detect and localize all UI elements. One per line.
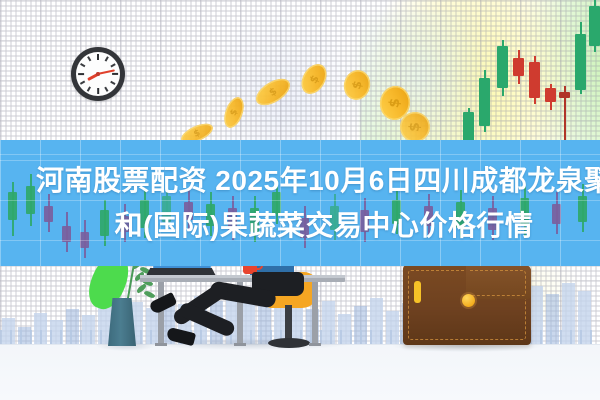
desk-leg: [312, 282, 318, 344]
candlestick: [463, 0, 474, 160]
clock-tick: [105, 87, 109, 92]
clock-tick: [112, 73, 118, 75]
candlestick: [479, 0, 490, 160]
candlestick-body: [589, 6, 600, 46]
candlestick-body: [479, 78, 490, 126]
clock-tick: [87, 56, 91, 61]
candlestick-body: [513, 58, 524, 76]
candlestick: [545, 0, 556, 160]
candlestick-body: [463, 112, 474, 142]
candlestick: [513, 0, 524, 160]
gold-coin: $: [399, 111, 431, 143]
desk-leg-foot: [234, 343, 246, 346]
candlestick: [589, 0, 600, 160]
candlestick: [575, 0, 586, 160]
clock-center-pin: [96, 72, 100, 76]
candlestick: [529, 0, 540, 160]
clock-tick: [87, 87, 91, 92]
banner-image: $$$$$$$: [0, 0, 600, 400]
candlestick-body: [575, 34, 586, 90]
clock-tick: [80, 81, 85, 85]
dollar-sign-icon: $: [399, 111, 431, 143]
floor-surface: [0, 344, 600, 400]
clock-face: [76, 52, 120, 96]
desk-leg-foot: [155, 343, 167, 346]
wallet-clasp-button: [462, 294, 475, 307]
clock-tick: [97, 54, 99, 60]
candlestick-body: [559, 92, 570, 98]
clock-tick: [97, 88, 99, 94]
headline-text-block: 河南股票配资 2025年10月6日四川成都龙泉聚 和(国际)果蔬菜交易中心价格行…: [0, 158, 600, 248]
candlestick-body: [545, 88, 556, 102]
desk-surface-highlight: [140, 275, 345, 278]
desk-leg: [158, 282, 164, 344]
candlestick-chart-top-right: [455, 0, 600, 160]
clock-tick: [78, 73, 84, 75]
wall-clock: [71, 47, 125, 101]
candlestick-body: [497, 46, 508, 88]
candlestick: [559, 0, 570, 160]
clock-tick: [80, 63, 85, 67]
headline-line-2: 和(国际)果蔬菜交易中心价格行情: [18, 203, 582, 248]
clock-tick: [111, 63, 116, 67]
candlestick: [497, 0, 508, 160]
wallet-flap-group: [403, 265, 531, 345]
candlestick-body: [529, 62, 540, 98]
plant-vase: [108, 298, 136, 346]
wallet-flap-stitching: [470, 270, 526, 296]
clock-tick: [105, 56, 109, 61]
clock-tick: [111, 81, 116, 85]
headline-line-1: 河南股票配资 2025年10月6日四川成都龙泉聚: [18, 158, 582, 203]
desk-leg-foot: [309, 343, 321, 346]
office-chair-base: [268, 338, 310, 348]
